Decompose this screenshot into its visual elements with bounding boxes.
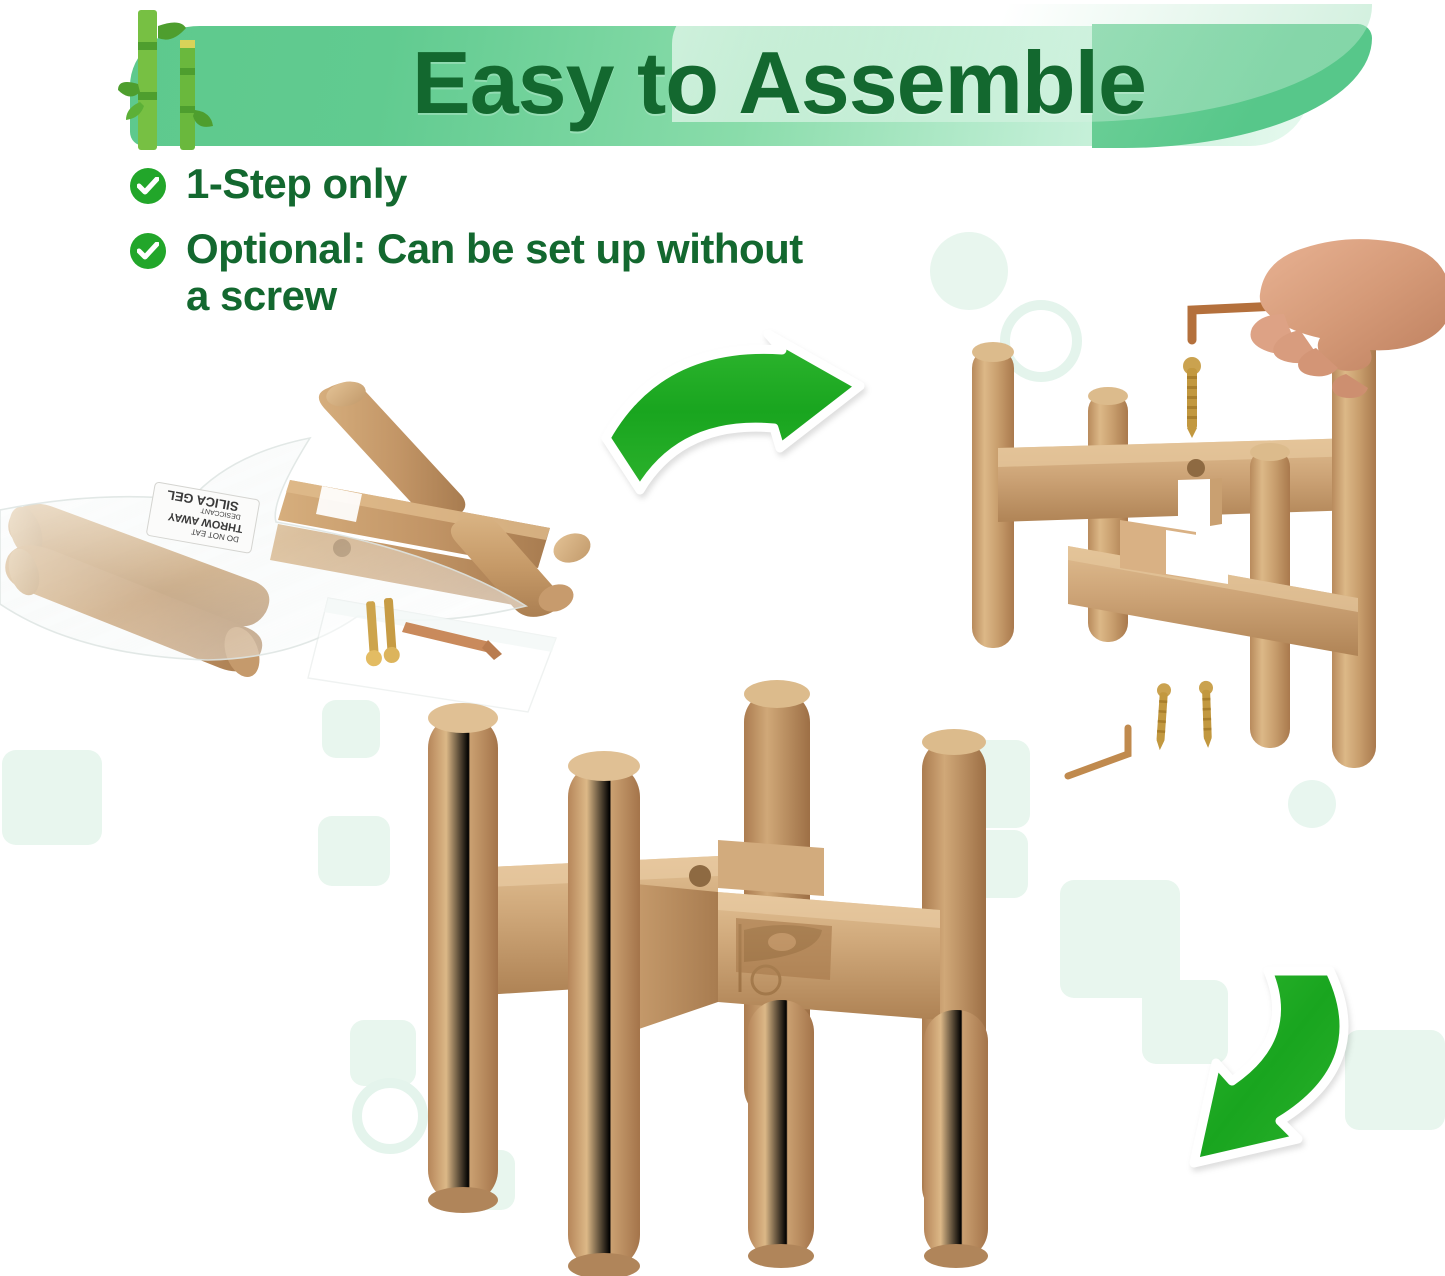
feature-list: 1-Step only Optional: Can be set up with… <box>130 160 910 337</box>
header-banner: Easy to Assemble <box>112 4 1357 156</box>
screw-icon <box>1183 357 1201 438</box>
assembled-stand-photo <box>400 680 1030 1276</box>
bg-square <box>55 765 95 805</box>
check-circle-icon <box>130 233 166 269</box>
feature-text: 1-Step only <box>186 160 407 207</box>
infographic-canvas: Easy to Assemble 1-Step only <box>0 0 1445 1276</box>
flow-arrow-bottom <box>1030 965 1370 1175</box>
feature-text: Optional: Can be set up without a screw <box>186 225 826 319</box>
loose-hardware <box>1068 681 1215 776</box>
flow-arrow-top <box>592 330 922 515</box>
packaged-flat-pack-photo: DO NOT EAT THROW AWAY DESICCANT SILICA G… <box>0 360 640 720</box>
bamboo-stalks-icon <box>118 6 228 154</box>
list-item: 1-Step only <box>130 160 910 207</box>
assembly-step-photo <box>960 180 1445 880</box>
page-title: Easy to Assemble <box>412 28 1292 138</box>
bg-square <box>2 750 102 845</box>
bg-square <box>318 816 390 886</box>
list-item: Optional: Can be set up without a screw <box>130 225 910 319</box>
check-circle-icon <box>130 168 166 204</box>
